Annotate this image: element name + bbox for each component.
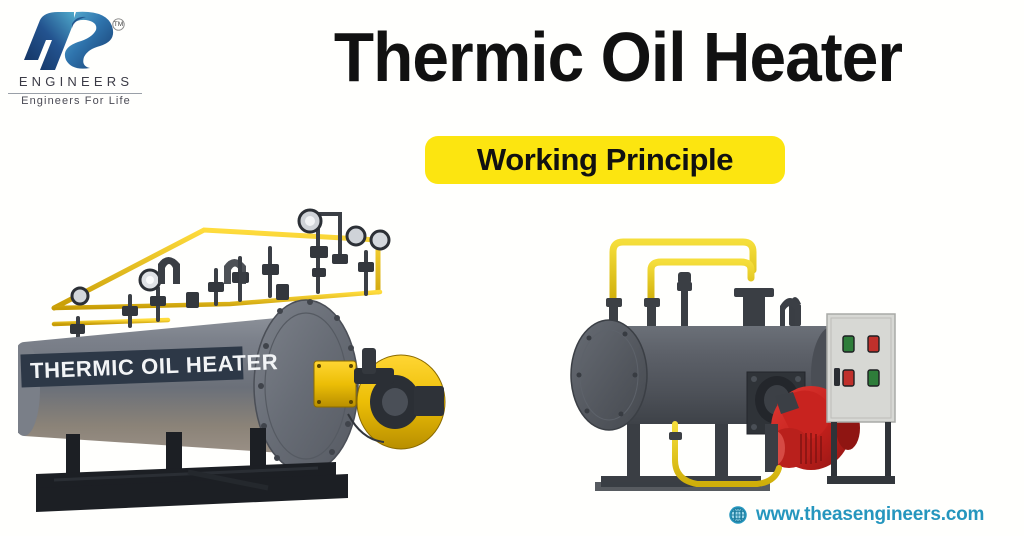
trademark-icon: TM [112, 18, 124, 30]
as-monogram-icon [14, 8, 132, 70]
brand-logo: TM ENGINEERS Engineers For Life [0, 8, 160, 113]
badge-label: Working Principle [477, 142, 733, 178]
website-link[interactable]: www.theasengineers.com [728, 504, 984, 526]
globe-icon [728, 505, 748, 525]
brand-company-name: ENGINEERS [6, 74, 146, 89]
product-image-thermic-oil-heater-right [565, 228, 915, 496]
brand-divider [8, 93, 142, 94]
page-title: Thermic Oil Heater [286, 20, 950, 94]
product-image-thermic-oil-heater-left: THERMIC OIL HEATER [18, 196, 488, 516]
poster-canvas: TM ENGINEERS Engineers For Life Thermic … [0, 0, 1024, 536]
website-url-text: www.theasengineers.com [756, 504, 984, 526]
working-principle-badge: Working Principle [425, 136, 785, 184]
brand-tagline: Engineers For Life [6, 95, 146, 107]
